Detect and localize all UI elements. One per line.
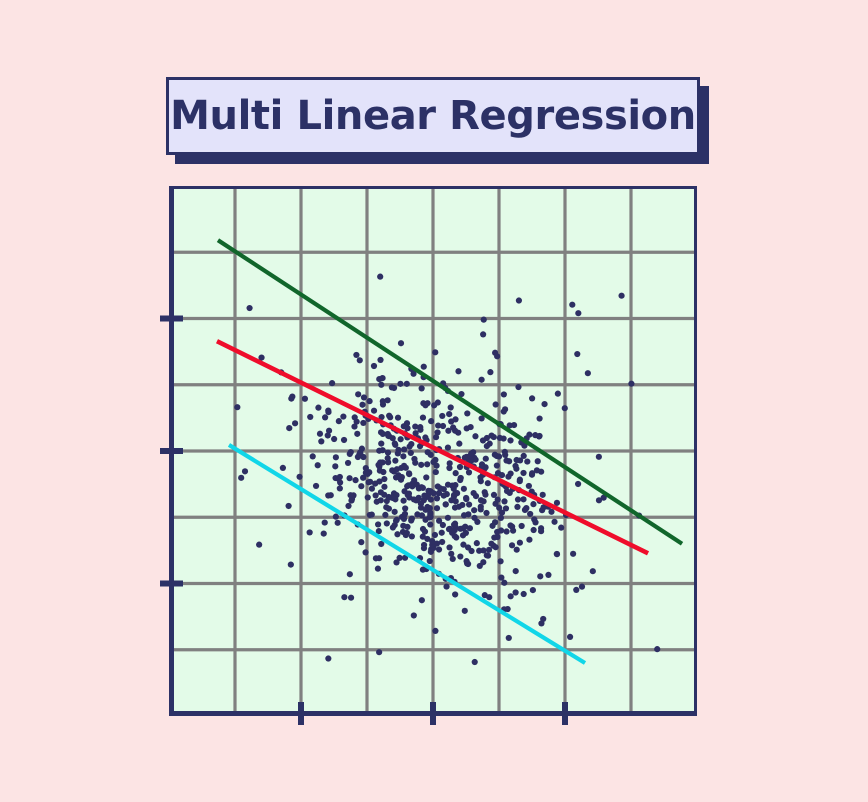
scatter-point: [452, 428, 458, 434]
scatter-point: [377, 468, 383, 474]
scatter-point: [329, 380, 335, 386]
scatter-point: [409, 483, 415, 489]
scatter-point: [457, 553, 463, 559]
scatter-point: [499, 472, 505, 478]
scatter-point: [502, 452, 508, 458]
scatter-point: [333, 514, 339, 520]
scatter-point: [310, 453, 316, 459]
scatter-point: [427, 521, 433, 527]
scatter-point: [537, 573, 543, 579]
scatter-point: [495, 497, 501, 503]
scatter-point: [392, 440, 398, 446]
scatter-point: [421, 493, 427, 499]
scatter-point: [288, 395, 294, 401]
scatter-point: [408, 450, 414, 456]
scatter-point: [445, 515, 451, 521]
scatter-point: [654, 646, 660, 652]
scatter-point: [461, 512, 467, 518]
scatter-point: [427, 558, 433, 564]
scatter-point: [493, 401, 499, 407]
scatter-point: [331, 436, 337, 442]
scatter-point: [369, 511, 375, 517]
scatter-point: [322, 414, 328, 420]
scatter-point: [483, 456, 489, 462]
scatter-point: [390, 435, 396, 441]
scatter-plot-container: [169, 186, 697, 716]
scatter-point: [394, 517, 400, 523]
scatter-point: [433, 469, 439, 475]
scatter-point: [482, 489, 488, 495]
scatter-point: [435, 422, 441, 428]
scatter-point: [596, 497, 602, 503]
scatter-point: [286, 425, 292, 431]
scatter-point: [378, 497, 384, 503]
scatter-point: [575, 310, 581, 316]
scatter-point: [491, 434, 497, 440]
scatter-point: [461, 486, 467, 492]
scatter-point: [517, 478, 523, 484]
scatter-point: [596, 454, 602, 460]
scatter-point: [332, 463, 338, 469]
scatter-point: [418, 501, 424, 507]
scatter-point: [501, 498, 507, 504]
scatter-point: [325, 655, 331, 661]
scatter-point: [313, 483, 319, 489]
scatter-point: [567, 634, 573, 640]
scatter-point: [575, 481, 581, 487]
scatter-point: [384, 498, 390, 504]
scatter-point: [347, 571, 353, 577]
scatter-point: [360, 420, 366, 426]
scatter-point: [325, 409, 331, 415]
scatter-point: [519, 523, 525, 529]
scatter-point: [386, 413, 392, 419]
scatter-point: [501, 391, 507, 397]
scatter-point: [508, 593, 514, 599]
scatter-point: [371, 408, 377, 414]
scatter-point: [536, 433, 542, 439]
scatter-point: [377, 274, 383, 280]
scatter-point: [347, 492, 353, 498]
scatter-point: [529, 470, 535, 476]
scatter-point: [446, 411, 452, 417]
scatter-point: [514, 547, 520, 553]
scatter-point: [517, 540, 523, 546]
scatter-point: [354, 431, 360, 437]
scatter-point: [489, 523, 495, 529]
scatter-point: [432, 628, 438, 634]
scatter-point: [507, 437, 513, 443]
scatter-point: [524, 458, 530, 464]
scatter-point: [357, 449, 363, 455]
scatter-point: [535, 458, 541, 464]
scatter-point: [315, 462, 321, 468]
scatter-point: [521, 591, 527, 597]
scatter-point: [425, 449, 431, 455]
scatter-point: [325, 432, 331, 438]
scatter-point: [405, 492, 411, 498]
scatter-point: [420, 526, 426, 532]
scatter-plot-svg: [169, 186, 697, 716]
scatter-point: [307, 529, 313, 535]
scatter-point: [428, 418, 434, 424]
scatter-point: [530, 587, 536, 593]
scatter-point: [443, 583, 449, 589]
scatter-point: [402, 511, 408, 517]
scatter-point: [514, 504, 520, 510]
scatter-point: [466, 501, 472, 507]
scatter-point: [362, 549, 368, 555]
scatter-point: [395, 415, 401, 421]
scatter-point: [540, 616, 546, 622]
scatter-point: [456, 441, 462, 447]
scatter-point: [480, 437, 486, 443]
scatter-point: [468, 424, 474, 430]
scatter-point: [321, 531, 327, 537]
scatter-point: [526, 483, 532, 489]
scatter-point: [520, 496, 526, 502]
scatter-point: [357, 357, 363, 363]
scatter-point: [513, 568, 519, 574]
scatter-point: [341, 594, 347, 600]
scatter-point: [411, 456, 417, 462]
scatter-point: [385, 455, 391, 461]
scatter-point: [376, 448, 382, 454]
scatter-point: [478, 506, 484, 512]
scatter-point: [386, 506, 392, 512]
scatter-point: [515, 496, 521, 502]
scatter-point: [365, 494, 371, 500]
scatter-point: [398, 465, 404, 471]
scatter-point: [501, 580, 507, 586]
scatter-point: [516, 297, 522, 303]
scatter-point: [452, 591, 458, 597]
scatter-point: [371, 363, 377, 369]
scatter-point: [378, 441, 384, 447]
scatter-point: [464, 560, 470, 566]
scatter-point: [390, 524, 396, 530]
scatter-point: [400, 453, 406, 459]
scatter-point: [280, 465, 286, 471]
scatter-point: [352, 477, 358, 483]
scatter-point: [526, 537, 532, 543]
scatter-point: [628, 381, 634, 387]
scatter-point: [401, 446, 407, 452]
page-title: Multi Linear Regression: [170, 96, 696, 136]
scatter-point: [448, 404, 454, 410]
scatter-point: [409, 515, 415, 521]
scatter-point: [379, 375, 385, 381]
scatter-point: [424, 400, 430, 406]
scatter-point: [457, 477, 463, 483]
scatter-point: [317, 431, 323, 437]
scatter-point: [492, 452, 498, 458]
scatter-point: [452, 505, 458, 511]
scatter-point: [332, 475, 338, 481]
scatter-point: [380, 398, 386, 404]
scatter-point: [529, 395, 535, 401]
scatter-point: [481, 317, 487, 323]
scatter-point: [292, 420, 298, 426]
scatter-point: [351, 423, 357, 429]
scatter-point: [618, 293, 624, 299]
scatter-point: [506, 458, 512, 464]
scatter-point: [340, 413, 346, 419]
scatter-point: [381, 484, 387, 490]
scatter-point: [460, 542, 466, 548]
scatter-point: [358, 483, 364, 489]
scatter-point: [498, 527, 504, 533]
scatter-point: [335, 520, 341, 526]
scatter-point: [296, 474, 302, 480]
scatter-point: [419, 385, 425, 391]
scatter-point: [439, 413, 445, 419]
scatter-point: [359, 402, 365, 408]
scatter-point: [375, 521, 381, 527]
scatter-point: [302, 396, 308, 402]
scatter-point: [256, 542, 262, 548]
scatter-point: [421, 364, 427, 370]
scatter-point: [494, 353, 500, 359]
scatter-point: [551, 519, 557, 525]
scatter-point: [234, 404, 240, 410]
scatter-point: [538, 528, 544, 534]
scatter-point: [403, 532, 409, 538]
scatter-point: [457, 464, 463, 470]
scatter-point: [355, 391, 361, 397]
scatter-point: [336, 418, 342, 424]
scatter-point: [515, 384, 521, 390]
scatter-point: [478, 497, 484, 503]
scatter-point: [486, 547, 492, 553]
scatter-point: [505, 474, 511, 480]
scatter-point: [393, 474, 399, 480]
scatter-point: [417, 427, 423, 433]
scatter-point: [439, 539, 445, 545]
scatter-point: [394, 531, 400, 537]
scatter-point: [506, 635, 512, 641]
scatter-point: [466, 469, 472, 475]
scatter-point: [420, 414, 426, 420]
scatter-point: [573, 587, 579, 593]
scatter-point: [404, 420, 410, 426]
slide-canvas: Multi Linear Regression: [0, 0, 868, 802]
scatter-point: [460, 532, 466, 538]
scatter-point: [503, 505, 509, 511]
scatter-point: [432, 457, 438, 463]
scatter-point: [428, 549, 434, 555]
scatter-point: [409, 533, 415, 539]
scatter-point: [318, 438, 324, 444]
scatter-point: [288, 562, 294, 568]
scatter-point: [384, 520, 390, 526]
scatter-point: [353, 352, 359, 358]
title-card-container: Multi Linear Regression: [166, 77, 700, 155]
scatter-point: [419, 597, 425, 603]
scatter-point: [424, 536, 430, 542]
scatter-point: [392, 458, 398, 464]
scatter-point: [431, 490, 437, 496]
scatter-point: [447, 460, 453, 466]
scatter-point: [558, 525, 564, 531]
scatter-point: [315, 405, 321, 411]
scatter-point: [378, 382, 384, 388]
scatter-point: [404, 524, 410, 530]
scatter-point: [474, 540, 480, 546]
scatter-point: [498, 515, 504, 521]
scatter-point: [480, 331, 486, 337]
scatter-point: [346, 475, 352, 481]
scatter-point: [420, 485, 426, 491]
scatter-point: [555, 391, 561, 397]
scatter-point: [569, 302, 575, 308]
scatter-point: [392, 509, 398, 515]
scatter-point: [418, 462, 424, 468]
scatter-point: [497, 558, 503, 564]
scatter-point: [452, 416, 458, 422]
scatter-point: [400, 498, 406, 504]
scatter-point: [414, 511, 420, 517]
scatter-point: [449, 483, 455, 489]
scatter-point: [514, 457, 520, 463]
scatter-point: [501, 408, 507, 414]
scatter-point: [468, 450, 474, 456]
scatter-point: [574, 351, 580, 357]
scatter-point: [365, 479, 371, 485]
scatter-point: [432, 532, 438, 538]
scatter-point: [286, 503, 292, 509]
scatter-point: [579, 584, 585, 590]
scatter-point: [532, 519, 538, 525]
scatter-point: [453, 470, 459, 476]
scatter-point: [385, 449, 391, 455]
scatter-point: [377, 459, 383, 465]
scatter-point: [404, 381, 410, 387]
scatter-point: [443, 501, 449, 507]
scatter-point: [390, 495, 396, 501]
scatter-point: [513, 589, 519, 595]
scatter-point: [322, 519, 328, 525]
scatter-point: [361, 394, 367, 400]
scatter-point: [376, 649, 382, 655]
scatter-point: [411, 496, 417, 502]
scatter-point: [486, 594, 492, 600]
scatter-point: [452, 533, 458, 539]
scatter-point: [381, 492, 387, 498]
scatter-point: [487, 369, 493, 375]
scatter-point: [408, 441, 414, 447]
scatter-point: [536, 415, 542, 421]
scatter-point: [494, 462, 500, 468]
scatter-point: [501, 435, 507, 441]
scatter-point: [527, 511, 533, 517]
scatter-point: [397, 381, 403, 387]
scatter-point: [503, 528, 509, 534]
scatter-point: [411, 612, 417, 618]
scatter-point: [398, 340, 404, 346]
scatter-point: [341, 437, 347, 443]
scatter-point: [493, 544, 499, 550]
scatter-point: [513, 466, 519, 472]
scatter-point: [477, 563, 483, 569]
scatter-point: [358, 539, 364, 545]
scatter-point: [434, 495, 440, 501]
scatter-point: [393, 559, 399, 565]
scatter-point: [445, 445, 451, 451]
scatter-point: [485, 480, 491, 486]
scatter-point: [432, 349, 438, 355]
scatter-point: [446, 544, 452, 550]
scatter-point: [467, 525, 473, 531]
scatter-point: [554, 551, 560, 557]
title-card: Multi Linear Regression: [166, 77, 700, 155]
scatter-point: [523, 505, 529, 511]
scatter-point: [439, 530, 445, 536]
scatter-point: [448, 551, 454, 557]
scatter-point: [437, 485, 443, 491]
scatter-point: [479, 377, 485, 383]
scatter-point: [238, 475, 244, 481]
scatter-point: [471, 490, 477, 496]
scatter-point: [491, 534, 497, 540]
scatter-point: [398, 436, 404, 442]
scatter-point: [381, 476, 387, 482]
scatter-point: [441, 493, 447, 499]
scatter-point: [463, 495, 469, 501]
scatter-point: [530, 501, 536, 507]
scatter-point: [464, 410, 470, 416]
scatter-point: [452, 527, 458, 533]
scatter-point: [452, 491, 458, 497]
scatter-point: [431, 402, 437, 408]
scatter-point: [478, 478, 484, 484]
scatter-point: [333, 454, 339, 460]
scatter-point: [509, 524, 515, 530]
scatter-point: [421, 545, 427, 551]
scatter-point: [328, 492, 334, 498]
scatter-point: [242, 468, 248, 474]
scatter-point: [377, 357, 383, 363]
scatter-point: [472, 433, 478, 439]
scatter-point: [496, 505, 502, 511]
scatter-point: [389, 384, 395, 390]
scatter-point: [436, 518, 442, 524]
scatter-point: [521, 453, 527, 459]
scatter-point: [348, 449, 354, 455]
scatter-point: [345, 503, 351, 509]
scatter-point: [485, 553, 491, 559]
scatter-point: [427, 510, 433, 516]
scatter-point: [345, 460, 351, 466]
scatter-point: [382, 512, 388, 518]
scatter-point: [373, 492, 379, 498]
scatter-point: [520, 470, 526, 476]
scatter-point: [540, 492, 546, 498]
scatter-point: [570, 551, 576, 557]
scatter-point: [480, 547, 486, 553]
scatter-point: [531, 527, 537, 533]
scatter-point: [585, 370, 591, 376]
scatter-point: [424, 461, 430, 467]
scatter-point: [590, 568, 596, 574]
scatter-point: [348, 595, 354, 601]
scatter-point: [422, 434, 428, 440]
scatter-point: [545, 572, 551, 578]
scatter-point: [471, 515, 477, 521]
scatter-point: [363, 465, 369, 471]
scatter-point: [487, 441, 493, 447]
scatter-point: [375, 566, 381, 572]
